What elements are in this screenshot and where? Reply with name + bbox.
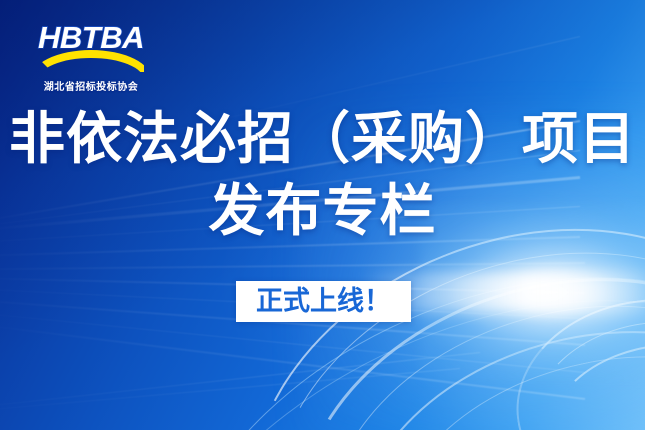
headline-line-2: 发布专栏	[0, 176, 645, 248]
headline-line-1: 非依法必招（采购）项目	[0, 104, 645, 176]
page-title: 非依法必招（采购）项目 发布专栏	[0, 104, 645, 248]
logo-organization-name: 湖北省招标投标协会	[26, 78, 156, 93]
promo-banner: HBTBA 湖北省招标投标协会 非依法必招（采购）项目 发布专栏 正式上线！	[0, 0, 645, 430]
status-badge: 正式上线！	[236, 281, 411, 322]
hbtba-logo: HBTBA 湖北省招标投标协会	[26, 20, 156, 84]
status-badge-label: 正式上线！	[256, 287, 391, 317]
